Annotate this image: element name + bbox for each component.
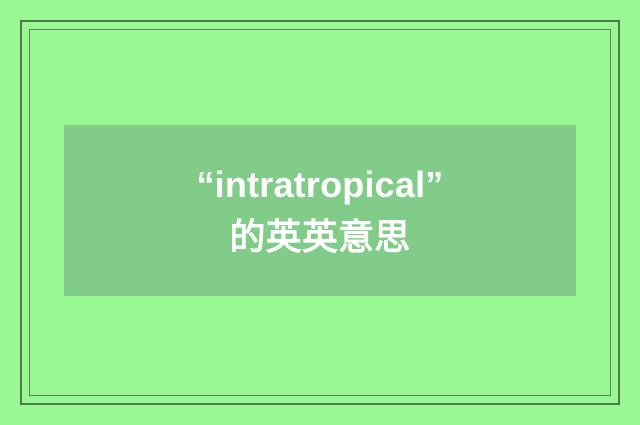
headline-text: “intratropical” 的英英意思 — [186, 159, 454, 261]
content-card: “intratropical” 的英英意思 — [64, 125, 576, 296]
page-canvas: “intratropical” 的英英意思 — [0, 0, 640, 425]
